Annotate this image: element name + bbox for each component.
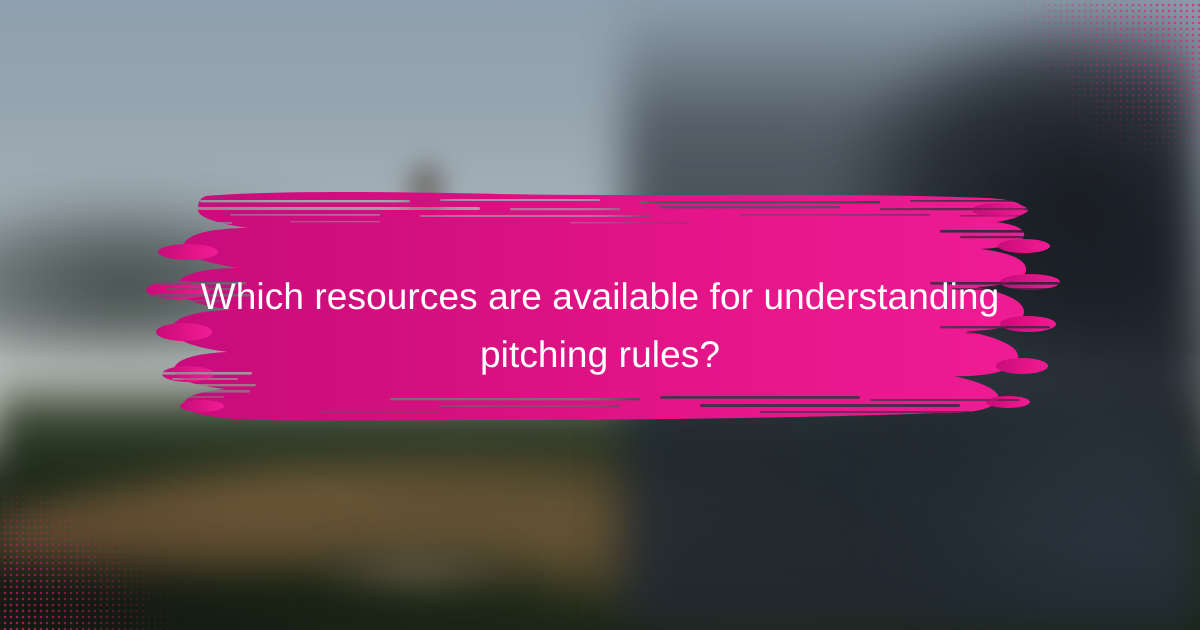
social-share-card: Which resources are available for unders… — [0, 0, 1200, 630]
page-title: Which resources are available for unders… — [190, 268, 1010, 384]
